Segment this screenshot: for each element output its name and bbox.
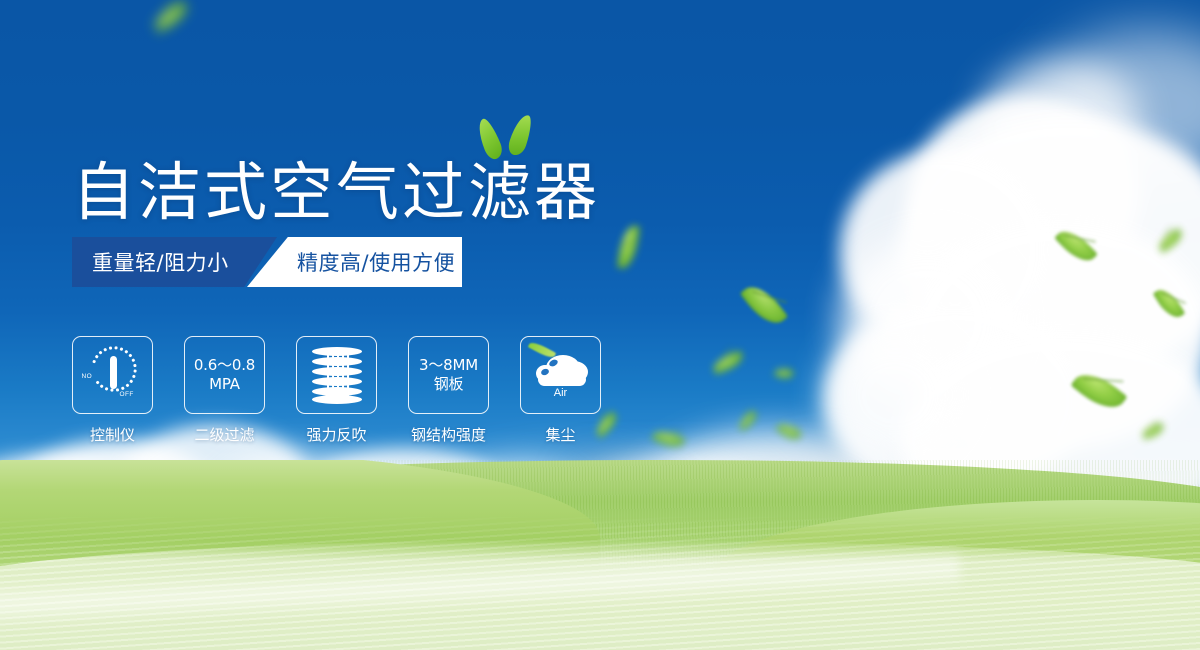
gauge-label-no: NO [82, 373, 93, 380]
feature-icon-box: 0.6～0.8 MPA [184, 336, 265, 414]
feature-icon-box [296, 336, 377, 414]
air-text: Air [530, 387, 592, 399]
banner-content: 自洁式空气过滤器 重量轻/阻力小 精度高/使用方便 [0, 0, 1200, 650]
page-title: 自洁式空气过滤器 [72, 142, 600, 233]
pressure-unit-text: MPA [194, 375, 255, 394]
steel-plate-text-icon: 3～8MM 钢板 [419, 356, 478, 394]
gauge-needle [110, 356, 117, 389]
feature-list: NO OFF 控制仪 0.6～0.8 MPA 二级过滤 [72, 336, 601, 445]
feature-label: 强力反吹 [296, 424, 377, 445]
feature-label: 二级过滤 [184, 424, 265, 445]
feature-item-controller[interactable]: NO OFF 控制仪 [72, 336, 153, 445]
gauge-label-off: OFF [120, 391, 134, 398]
steel-thickness-text: 3～8MM [419, 356, 478, 375]
feature-label: 钢结构强度 [408, 424, 489, 445]
subtitle-segment-left: 重量轻/阻力小 [72, 237, 277, 287]
feature-icon-box: NO OFF [72, 336, 153, 414]
feature-label: 集尘 [520, 424, 601, 445]
feature-item-dust[interactable]: Air 集尘 [520, 336, 601, 445]
pressure-range-text: 0.6～0.8 [194, 356, 255, 375]
subtitle-right-text: 精度高/使用方便 [247, 247, 455, 277]
subtitle-segment-right: 精度高/使用方便 [247, 237, 462, 287]
feature-icon-box: 3～8MM 钢板 [408, 336, 489, 414]
banner-stage: 自洁式空气过滤器 重量轻/阻力小 精度高/使用方便 [0, 0, 1200, 650]
feature-item-blowback[interactable]: 强力反吹 [296, 336, 377, 445]
stacked-discs-icon [312, 347, 362, 403]
feature-icon-box: Air [520, 336, 601, 414]
subtitle-bar: 重量轻/阻力小 精度高/使用方便 [72, 237, 462, 287]
gauge-icon: NO OFF [82, 346, 144, 404]
air-cloud-icon: Air [530, 347, 592, 403]
steel-plate-label: 钢板 [419, 375, 478, 394]
feature-item-pressure[interactable]: 0.6～0.8 MPA 二级过滤 [184, 336, 265, 445]
subtitle-left-text: 重量轻/阻力小 [72, 247, 229, 277]
feature-label: 控制仪 [72, 424, 153, 445]
pressure-text-icon: 0.6～0.8 MPA [194, 356, 255, 394]
feature-item-steel[interactable]: 3～8MM 钢板 钢结构强度 [408, 336, 489, 445]
